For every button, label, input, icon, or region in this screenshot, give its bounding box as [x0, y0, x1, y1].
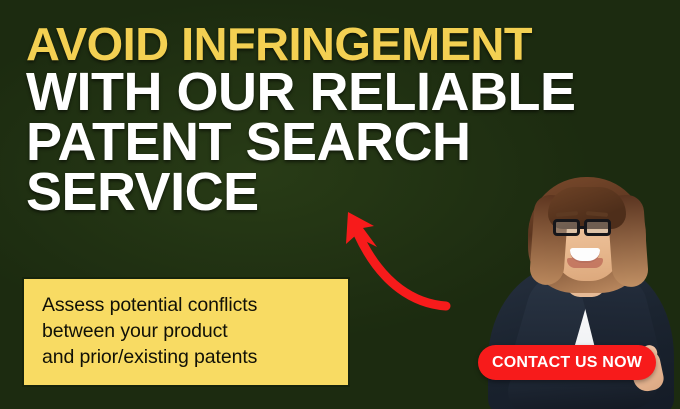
eyeglasses-lens-right: [584, 219, 611, 236]
callout-box: Assess potential conflicts between your …: [22, 277, 350, 387]
callout-line-2: between your product: [42, 319, 348, 345]
cta-label: CONTACT US NOW: [492, 354, 642, 372]
eyeglasses-bridge: [580, 226, 586, 229]
thumbnail-canvas: AVOID INFRINGEMENT WITH OUR RELIABLE PAT…: [0, 0, 680, 409]
callout-line-3: and prior/existing patents: [42, 345, 348, 371]
headline-line-4: SERVICE: [26, 167, 656, 219]
eyeglasses-lens-left: [553, 219, 580, 236]
headline-block: AVOID INFRINGEMENT WITH OUR RELIABLE PAT…: [26, 22, 656, 219]
callout-line-1: Assess potential conflicts: [42, 293, 348, 319]
contact-us-now-button[interactable]: CONTACT US NOW: [478, 345, 656, 380]
headline-line-1: AVOID INFRINGEMENT: [26, 22, 669, 66]
